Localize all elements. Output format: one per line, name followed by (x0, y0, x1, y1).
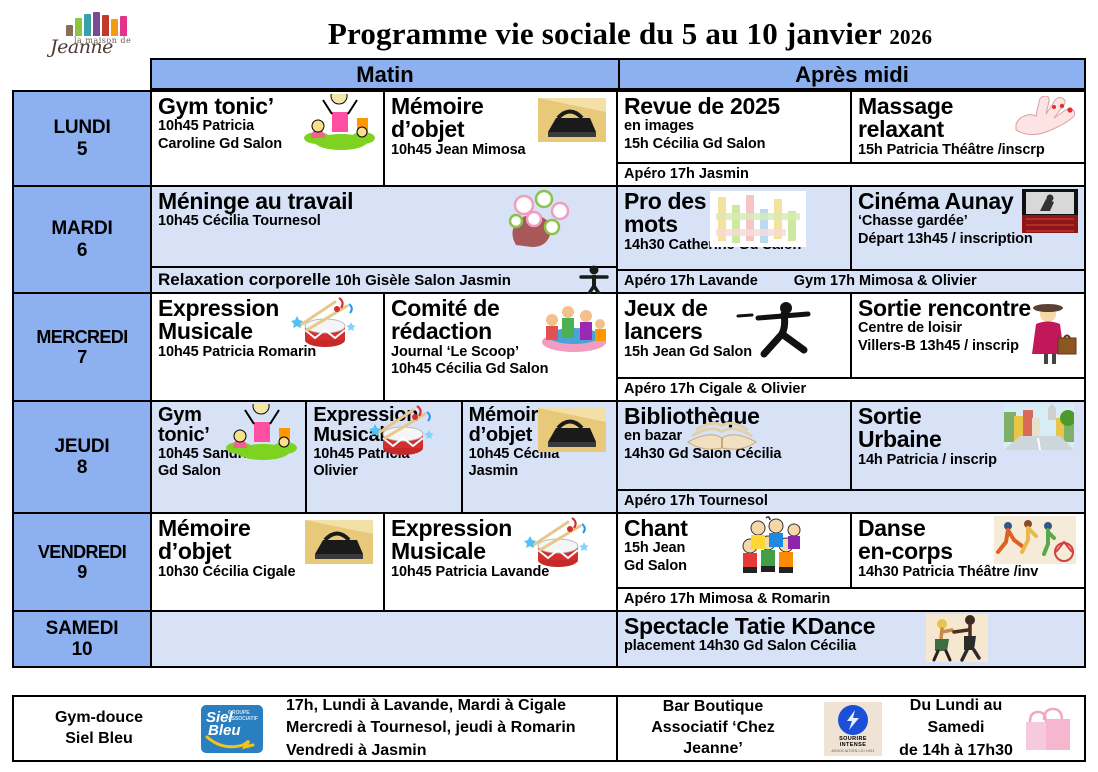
brain-icon (502, 189, 574, 251)
morning-cells: ExpressionMusicale10h45 Patricia Romarin… (152, 294, 616, 402)
day-number: 5 (77, 139, 87, 160)
morning-block: Mémoired’objet10h30 Cécilia CigaleExpres… (152, 514, 618, 612)
afternoon-block: Chant15h JeanGd SalonDanseen-corps14h30 … (618, 514, 1084, 612)
afternoon-block: Spectacle Tatie KDanceplacement 14h30 Gd… (618, 612, 1084, 668)
apero-text: Apéro 17h Cigale & Olivier (624, 381, 806, 397)
day-row: LUNDI5Gym tonic’10h45 PatriciaCaroline G… (12, 90, 1086, 187)
day-name: SAMEDI (46, 618, 119, 639)
open-book-icon (686, 406, 758, 452)
page-title: Programme vie sociale du 5 au 10 janvier… (200, 16, 1060, 52)
activity-detail: 15h Patricia Théâtre /inscrp (858, 142, 1079, 159)
activity-cell[interactable]: Spectacle Tatie KDanceplacement 14h30 Gd… (618, 612, 1084, 668)
activity-cell[interactable]: Massagerelaxant15h Patricia Théâtre /ins… (850, 92, 1084, 164)
morning-cells (152, 612, 616, 668)
morning-cells: Méninge au travail10h45 Cécilia Tourneso… (152, 187, 616, 268)
grid-header-spacer (12, 58, 150, 90)
activity-detail: Olivier (313, 463, 455, 480)
activity-detail: placement 14h30 Gd Salon Cécilia (624, 638, 1079, 655)
morning-note[interactable]: Relaxation corporelle 10h Gisèle Salon J… (152, 268, 616, 294)
activity-detail: 14h30 Patricia Théâtre /inv (858, 564, 1079, 581)
apero-extra: Gym 17h Mimosa & Olivier (794, 273, 977, 289)
day-row: SAMEDI10Spectacle Tatie KDanceplacement … (12, 612, 1086, 668)
afternoon-cells: Pro desmots14h30 Catherine Gd SalonCiném… (618, 187, 1084, 271)
apero-note[interactable]: Apéro 17h Jasmin (618, 164, 1084, 187)
column-header-morning: Matin (150, 58, 618, 90)
shopping-bags-icon (1014, 704, 1084, 754)
iron-icon (305, 520, 373, 564)
activity-cell[interactable]: ExpressionMusicale10h45 PatriciaOlivier (305, 402, 460, 514)
afternoon-cells: Revue de 2025en images15h Cécilia Gd Sal… (618, 92, 1084, 164)
programme-page: la maison de Jeanne Programme vie social… (0, 0, 1098, 772)
activity-detail: 15h Cécilia Gd Salon (624, 136, 845, 153)
activity-detail: en images (624, 118, 845, 135)
morning-cells: Mémoired’objet10h30 Cécilia CigaleExpres… (152, 514, 616, 612)
page-header: la maison de Jeanne Programme vie social… (0, 0, 1098, 62)
day-name: JEUDI (55, 436, 110, 457)
activity-cell[interactable] (152, 612, 616, 668)
drum-music-icon (291, 296, 361, 348)
day-row: MERCREDI7ExpressionMusicale10h45 Patrici… (12, 294, 1086, 402)
activity-cell[interactable]: Danseen-corps14h30 Patricia Théâtre /inv (850, 514, 1084, 589)
siel-bleu-swoosh-icon (205, 733, 261, 751)
afternoon-block: Pro desmots14h30 Catherine Gd SalonCiném… (618, 187, 1084, 294)
iron-icon (538, 408, 606, 452)
footer-right: Bar BoutiqueAssociatif ‘ChezJeanne’ SOUR… (618, 697, 1084, 760)
activity-cell[interactable]: Pro desmots14h30 Catherine Gd Salon (618, 187, 850, 271)
logo-wordmark: la maison de Jeanne (50, 32, 154, 58)
day-name: MERCREDI (36, 327, 127, 347)
morning-note-title: Relaxation corporelle (158, 270, 331, 289)
activity-detail: 15h Jean (624, 540, 845, 557)
kids-gym-icon (223, 404, 301, 460)
day-label-mercredi: MERCREDI7 (14, 294, 152, 402)
morning-block: Méninge au travail10h45 Cécilia Tourneso… (152, 187, 618, 294)
activity-cell[interactable]: Jeux delancers15h Jean Gd Salon (618, 294, 850, 379)
activity-cell[interactable]: Chant15h JeanGd Salon (618, 514, 850, 589)
thrower-icon (736, 296, 816, 358)
dancers-icon (994, 516, 1076, 564)
kids-gym-icon (301, 94, 379, 150)
activity-cell[interactable]: Gym tonic’10h45 PatriciaCaroline Gd Salo… (152, 92, 383, 187)
activity-cell[interactable]: ExpressionMusicale10h45 Patricia Romarin (152, 294, 383, 402)
gym-douce-label: Gym-douceSiel Bleu (14, 708, 184, 750)
iron-icon (538, 98, 606, 142)
activity-detail: Jasmin (469, 463, 611, 480)
morning-note-detail: 10h Gisèle Salon Jasmin (331, 272, 511, 289)
apero-note[interactable]: Apéro 17h Mimosa & Romarin (618, 589, 1084, 612)
afternoon-cells: Bibliothèqueen bazar14h30 Gd Salon Cécil… (618, 402, 1084, 491)
activity-detail: 10h30 Cécilia Cigale (158, 564, 378, 581)
day-number: 9 (77, 562, 86, 582)
activity-cell[interactable]: Mémoired’objet10h30 Cécilia Cigale (152, 514, 383, 612)
afternoon-cells: Jeux delancers15h Jean Gd SalonSortie re… (618, 294, 1084, 379)
morning-block: ExpressionMusicale10h45 Patricia Romarin… (152, 294, 618, 402)
day-label-samedi: SAMEDI10 (14, 612, 152, 668)
bar-boutique-label: Bar BoutiqueAssociatif ‘ChezJeanne’ (618, 697, 808, 759)
dance-couple-icon (926, 614, 988, 662)
column-header-afternoon: Après midi (618, 58, 1086, 90)
activity-title: Revue de 2025 (624, 95, 845, 118)
activity-detail: Gd Salon (158, 463, 300, 480)
page-title-year: 2026 (889, 25, 932, 49)
choir-icon (736, 516, 806, 574)
apero-note[interactable]: Apéro 17h Tournesol (618, 491, 1084, 514)
day-row: VENDREDI9Mémoired’objet10h30 Cécilia Cig… (12, 514, 1086, 612)
activity-cell[interactable]: Méninge au travail10h45 Cécilia Tourneso… (152, 187, 616, 268)
day-row: MARDI6Méninge au travail10h45 Cécilia To… (12, 187, 1086, 294)
activity-cell[interactable]: Bibliothèqueen bazar14h30 Gd Salon Cécil… (618, 402, 850, 491)
activity-detail: Départ 13h45 / inscription (858, 231, 1079, 248)
morning-cells: Gym tonic’10h45 PatriciaCaroline Gd Salo… (152, 92, 616, 187)
day-name: MARDI (51, 218, 112, 239)
afternoon-cells: Chant15h JeanGd SalonDanseen-corps14h30 … (618, 514, 1084, 589)
activity-detail: 10h45 Jean Mimosa (391, 142, 611, 159)
day-name: LUNDI (53, 117, 110, 138)
cinema-icon (1022, 189, 1078, 233)
lady-coat-icon (1024, 300, 1080, 366)
day-number: 7 (77, 347, 86, 367)
morning-cells: Gymtonic’10h45 SandrineGd SalonExpressio… (152, 402, 616, 514)
sourire-text-3: ASSOCIATION LOI 1901 (824, 749, 882, 753)
afternoon-cells: Spectacle Tatie KDanceplacement 14h30 Gd… (618, 612, 1084, 668)
activity-cell[interactable]: Sortie rencontreCentre de loisirVillers-… (850, 294, 1084, 379)
page-title-main: Programme vie sociale du 5 au 10 janvier (328, 16, 890, 51)
activity-detail: Gd Salon (624, 558, 845, 575)
activity-detail: 10h45 Cécilia Gd Salon (391, 361, 611, 378)
activity-cell[interactable]: Cinéma Aunay‘Chasse gardée’Départ 13h45 … (850, 187, 1084, 271)
apero-text: Apéro 17h Tournesol (624, 493, 768, 509)
sourire-bolt-icon (844, 710, 862, 730)
apero-text: Apéro 17h Jasmin (624, 166, 749, 182)
day-number: 8 (77, 457, 87, 478)
drum-music-icon (369, 404, 439, 456)
day-label-jeudi: JEUDI8 (14, 402, 152, 514)
siel-bleu-logo: Siel GROUPE ASSOCIATIF Bleu (184, 705, 280, 753)
schedule-grid: Matin Après midi LUNDI5Gym tonic’10h45 P… (12, 58, 1086, 668)
morning-block: Gym tonic’10h45 PatriciaCaroline Gd Salo… (152, 92, 618, 187)
footer: Gym-douceSiel Bleu Siel GROUPE ASSOCIATI… (12, 695, 1086, 762)
activity-cell[interactable]: ExpressionMusicale10h45 Patricia Lavande (383, 514, 616, 612)
activity-title: Chant (624, 517, 845, 540)
gym-douce-details: 17h, Lundi à Lavande, Mardi à CigaleMerc… (280, 695, 616, 761)
crossword-icon (710, 191, 806, 247)
activity-cell[interactable]: Comité derédactionJournal ‘Le Scoop’10h4… (383, 294, 616, 402)
activity-detail: 14h Patricia / inscrip (858, 452, 1079, 469)
activity-cell[interactable]: SortieUrbaine14h Patricia / inscrip (850, 402, 1084, 491)
apero-text: Apéro 17h Lavande (624, 273, 758, 289)
sourire-intense-logo: SOURIRE INTENSE ASSOCIATION LOI 1901 (808, 702, 898, 756)
footer-left: Gym-douceSiel Bleu Siel GROUPE ASSOCIATI… (14, 697, 618, 760)
drum-music-icon (524, 516, 594, 568)
day-label-vendredi: VENDREDI9 (14, 514, 152, 612)
morning-block (152, 612, 618, 668)
day-label-lundi: LUNDI5 (14, 92, 152, 187)
afternoon-block: Bibliothèqueen bazar14h30 Gd Salon Cécil… (618, 402, 1084, 514)
activity-cell[interactable]: Mémoired’objet10h45 CéciliaJasmin (461, 402, 616, 514)
afternoon-block: Revue de 2025en images15h Cécilia Gd Sal… (618, 92, 1084, 187)
day-number: 10 (72, 639, 93, 660)
apero-text: Apéro 17h Mimosa & Romarin (624, 591, 830, 607)
apero-note[interactable]: Apéro 17h LavandeGym 17h Mimosa & Olivie… (618, 271, 1084, 294)
logo-script-text: Jeanne (50, 36, 113, 58)
afternoon-block: Jeux delancers15h Jean Gd SalonSortie re… (618, 294, 1084, 402)
boutique-hours: Du Lundi au Samedide 14h à 17h30 (898, 695, 1014, 761)
grid-header-row: Matin Après midi (12, 58, 1086, 90)
activity-title: Spectacle Tatie KDance (624, 615, 1079, 638)
day-name: VENDREDI (38, 542, 126, 562)
town-street-icon (1004, 404, 1074, 450)
day-number: 6 (77, 240, 87, 261)
meeting-icon (540, 296, 608, 352)
hand-massage-icon (1012, 96, 1080, 136)
morning-block: Gymtonic’10h45 SandrineGd SalonExpressio… (152, 402, 618, 514)
apero-note[interactable]: Apéro 17h Cigale & Olivier (618, 379, 1084, 402)
sourire-text-2: INTENSE (824, 742, 882, 748)
day-label-mardi: MARDI6 (14, 187, 152, 294)
activity-cell[interactable]: Revue de 2025en images15h Cécilia Gd Sal… (618, 92, 850, 164)
activity-cell[interactable]: Mémoired’objet10h45 Jean Mimosa (383, 92, 616, 187)
activity-cell[interactable]: Gymtonic’10h45 SandrineGd Salon (152, 402, 305, 514)
day-row: JEUDI8Gymtonic’10h45 SandrineGd SalonExp… (12, 402, 1086, 514)
